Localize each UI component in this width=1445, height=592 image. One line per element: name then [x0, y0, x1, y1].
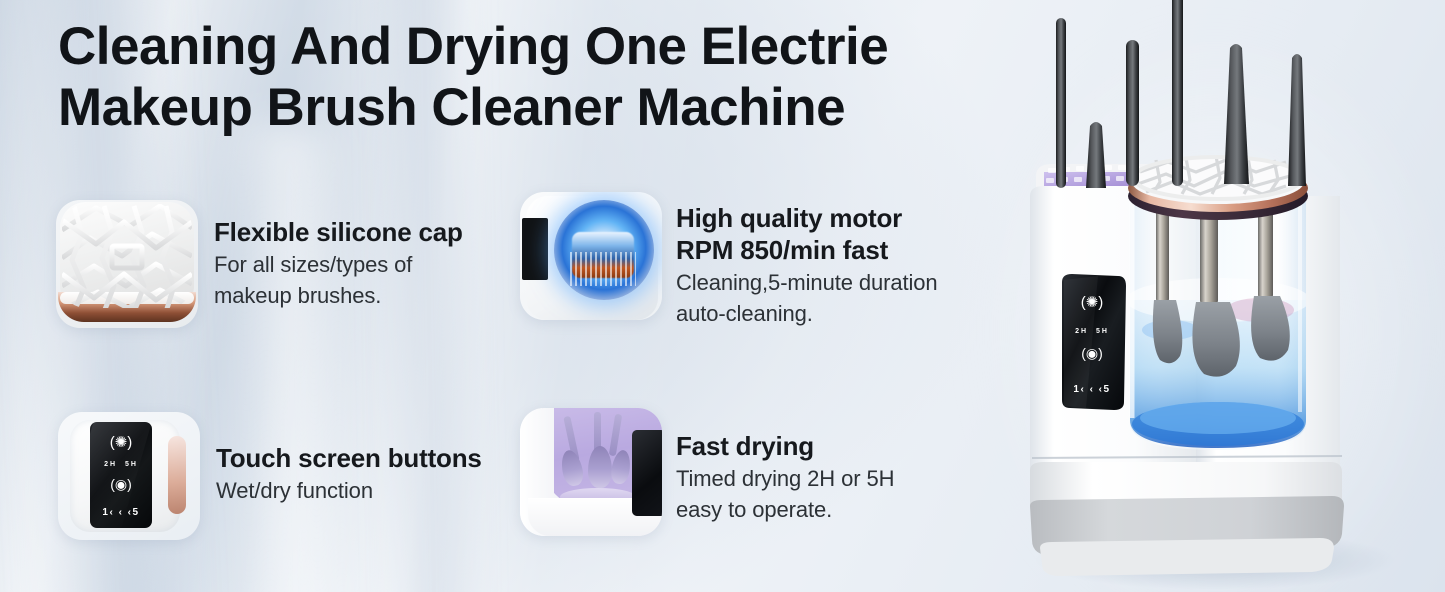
- motor-thumb-panel: [522, 218, 548, 280]
- drying-thumb-panel: [632, 430, 662, 516]
- feature-high-quality-motor: High quality motor RPM 850/min fast Clea…: [520, 192, 938, 328]
- drying-chamber-thumbnail: [520, 408, 662, 536]
- feature-2-sub-line-2: auto-cleaning.: [676, 300, 938, 328]
- feature-3-text: Touch screen buttons Wet/dry function: [200, 412, 482, 505]
- feature-1-title: Flexible silicone cap: [214, 216, 463, 248]
- feature-2-title-line-2: RPM 850/min fast: [676, 234, 938, 266]
- timer-5h-label: 5H: [125, 461, 138, 468]
- feature-3-title: Touch screen buttons: [216, 442, 482, 474]
- feature-4-sub-line-1: Timed drying 2H or 5H: [676, 465, 894, 493]
- droplet-icon: ◉: [115, 476, 127, 492]
- feature-4-text: Fast drying Timed drying 2H or 5H easy t…: [662, 408, 894, 524]
- page-title: Cleaning And Drying One Electrie Makeup …: [58, 16, 958, 138]
- fan-icon: ✺: [115, 434, 128, 451]
- feature-flexible-silicone-cap: Flexible silicone cap For all sizes/type…: [56, 200, 463, 328]
- level-max-label: 5: [133, 507, 140, 518]
- feature-2-sub-line-1: Cleaning,5-minute duration: [676, 269, 938, 297]
- fan-button-row: (✺): [90, 435, 152, 450]
- droplet-button-row: (◉): [90, 477, 152, 491]
- timer-2h-label: 2H: [104, 461, 117, 468]
- headline-line-2: Makeup Brush Cleaner Machine: [58, 77, 958, 138]
- silicone-cap-thumbnail: [56, 200, 198, 328]
- brush-head-2: [588, 446, 612, 488]
- motor-stripes: [570, 252, 636, 286]
- droplet-right-bracket: ): [127, 476, 132, 492]
- headline-line-1: Cleaning And Drying One Electrie: [58, 16, 958, 77]
- level-chevrons: ‹ ‹ ‹: [109, 507, 132, 518]
- product-feature-banner: Cleaning And Drying One Electrie Makeup …: [0, 0, 1445, 592]
- lattice-pattern-icon: [56, 200, 198, 328]
- feature-3-sub-line-1: Wet/dry function: [216, 477, 482, 505]
- feature-1-text: Flexible silicone cap For all sizes/type…: [198, 200, 463, 310]
- device-pink-accent: [168, 436, 186, 514]
- feature-1-sub-line-1: For all sizes/types of: [214, 251, 463, 279]
- feature-2-text: High quality motor RPM 850/min fast Clea…: [662, 192, 938, 328]
- timer-labels-row: 2H 5H: [90, 461, 152, 468]
- touch-panel-thumbnail: (✺) 2H 5H (◉) 1‹ ‹ ‹5: [58, 412, 200, 540]
- feature-4-title: Fast drying: [676, 430, 894, 462]
- touch-control-panel: (✺) 2H 5H (◉) 1‹ ‹ ‹5: [90, 422, 152, 528]
- product-hero-image: [1000, 0, 1445, 592]
- feature-fast-drying: Fast drying Timed drying 2H or 5H easy t…: [520, 408, 894, 536]
- feature-2-title-line-1: High quality motor: [676, 202, 938, 234]
- feature-touch-screen-buttons: (✺) 2H 5H (◉) 1‹ ‹ ‹5 Touch screen butto…: [58, 412, 482, 540]
- feature-4-sub-line-2: easy to operate.: [676, 496, 894, 524]
- motor-thumbnail: [520, 192, 662, 320]
- fan-right-bracket: ): [127, 434, 132, 451]
- feature-1-sub-line-2: makeup brushes.: [214, 282, 463, 310]
- speed-level-row: 1‹ ‹ ‹5: [90, 508, 152, 518]
